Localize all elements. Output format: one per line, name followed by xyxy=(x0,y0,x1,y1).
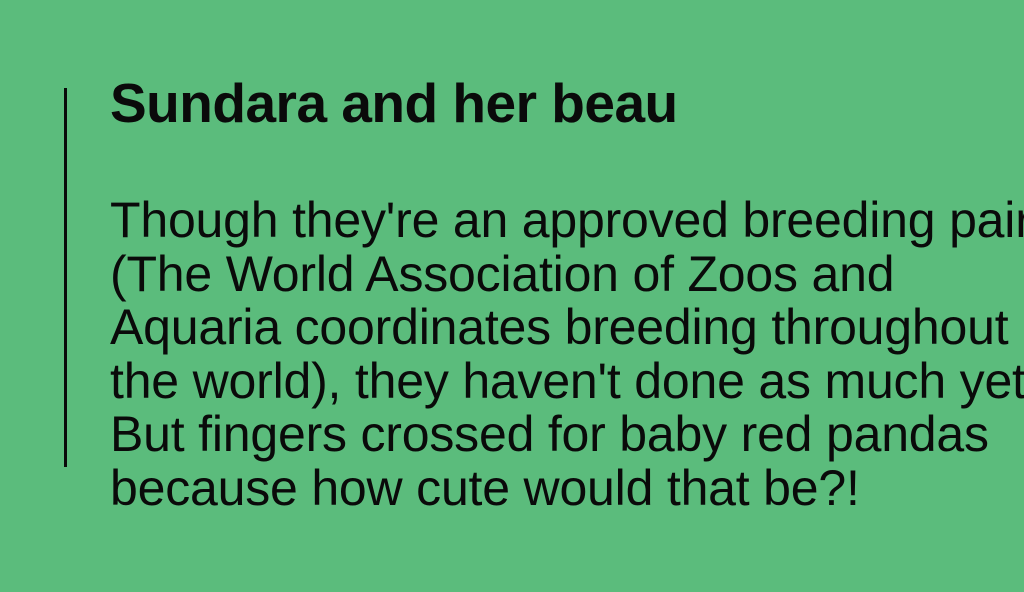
slide-canvas: Sundara and her beau Though they're an a… xyxy=(0,0,1024,592)
body-text-block: Though they're an approved breeding pair… xyxy=(110,194,990,515)
body-line: (The World Association of Zoos and xyxy=(110,248,990,302)
body-line: the world), they haven't done as much ye… xyxy=(110,355,990,409)
body-line: Aquaria coordinates breeding throughout xyxy=(110,301,990,355)
page-title: Sundara and her beau xyxy=(110,72,678,134)
vertical-accent-rule xyxy=(64,88,67,467)
slide-content: Sundara and her beau Though they're an a… xyxy=(110,0,990,592)
body-line: But fingers crossed for baby red pandas xyxy=(110,408,990,462)
body-line: Though they're an approved breeding pair xyxy=(110,194,990,248)
body-line: because how cute would that be?! xyxy=(110,462,990,516)
